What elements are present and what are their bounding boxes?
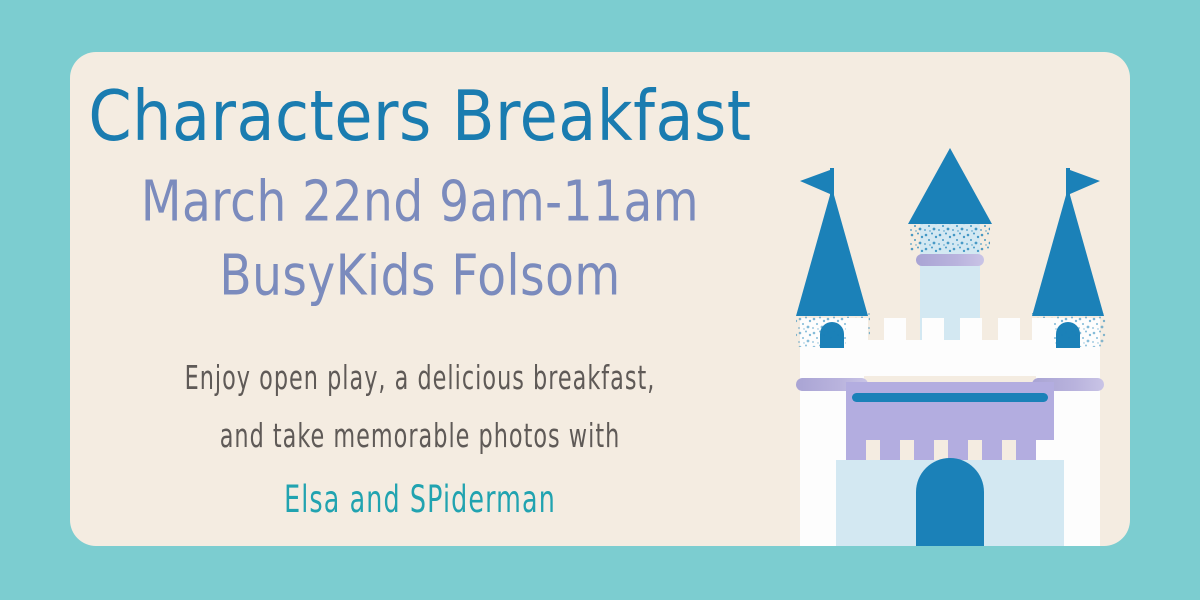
merlon [884,318,906,342]
left-flag-pole [830,168,834,216]
merlon [960,318,982,342]
arched-gate [916,458,984,546]
right-flag-pole [1066,168,1070,216]
merlon [846,318,868,342]
gate-arch [916,458,984,546]
poster-text-column: Characters Breakfast March 22nd 9am-11am… [70,52,770,546]
merlon-lower [982,436,1002,462]
merlon-lower [914,436,934,462]
event-description-line-2: and take memorable photos with [98,420,742,453]
center-spire-roof [908,148,992,224]
upper-wall-body [846,340,1054,376]
merlon [1032,318,1054,342]
right-flag [1070,170,1100,194]
merlon-lower [1016,436,1036,462]
event-venue: BusyKids Folsom [77,248,763,304]
rampart-fill [846,382,1054,440]
center-spire-spray [910,222,990,252]
event-description-line-1: Enjoy open play, a delicious breakfast, [98,362,742,395]
merlon-lower [846,436,866,462]
merlon [922,318,944,342]
featured-characters: Elsa and SPiderman [91,482,749,520]
castle-illustration [770,148,1130,546]
castle-svg [770,148,1130,546]
center-spire-band [916,254,984,266]
merlon [998,318,1020,342]
poster-card: Characters Breakfast March 22nd 9am-11am… [70,52,1130,546]
merlon-lower [880,436,900,462]
rampart-stripe [852,393,1048,402]
event-poster: Characters Breakfast March 22nd 9am-11am… [0,0,1200,600]
purple-rampart-band [846,382,1054,440]
page-title: Characters Breakfast [70,82,770,151]
event-date-time: March 22nd 9am-11am [77,174,763,230]
left-flag [800,170,830,194]
